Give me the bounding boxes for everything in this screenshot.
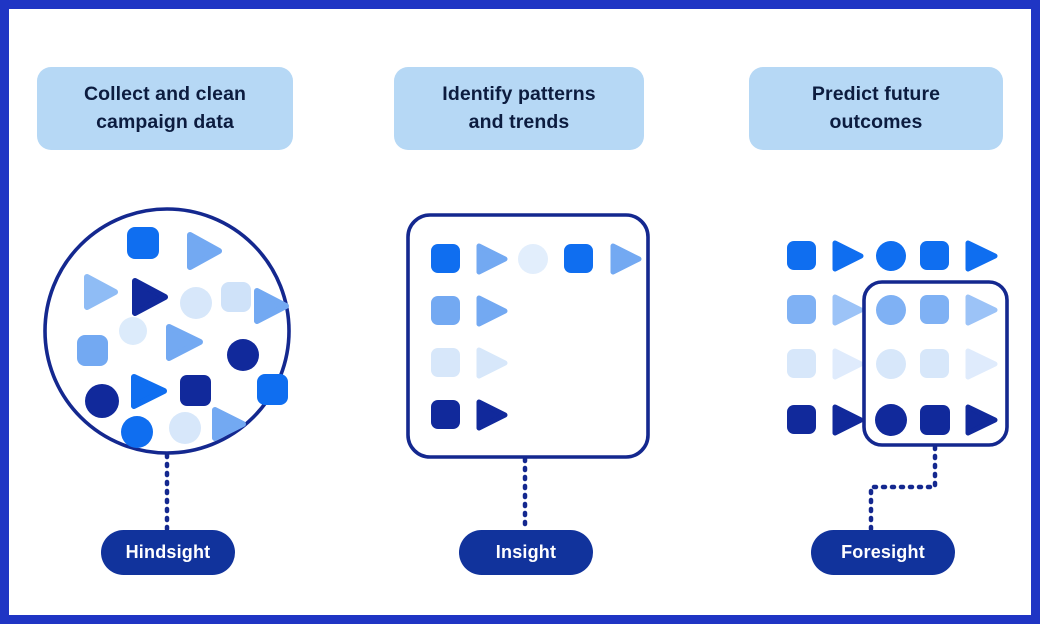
- scatter-triangle: [135, 281, 165, 313]
- foresight-square: [787, 241, 816, 270]
- foresight-triangle: [968, 243, 995, 269]
- insight-square: [431, 296, 460, 325]
- scatter-circle: [227, 339, 259, 371]
- label-pill-hindsight[interactable]: Hindsight: [101, 530, 235, 575]
- label-pill-insight[interactable]: Insight: [459, 530, 593, 575]
- insight-square: [564, 244, 593, 273]
- foresight-circle: [875, 404, 907, 436]
- scatter-circle: [85, 384, 119, 418]
- foresight-square: [920, 241, 949, 270]
- label-text-hindsight: Hindsight: [126, 542, 211, 563]
- diagram-graphics: [9, 9, 1031, 615]
- foresight-circle: [876, 295, 906, 325]
- foresight-triangle: [968, 297, 995, 323]
- foresight-circle: [876, 349, 906, 379]
- foresight-grid: [787, 241, 1007, 529]
- foresight-triangle: [835, 351, 861, 377]
- label-text-insight: Insight: [496, 542, 556, 563]
- insight-triangle: [479, 350, 505, 376]
- label-text-foresight: Foresight: [841, 542, 925, 563]
- scatter-circle: [121, 416, 153, 448]
- foresight-triangle: [835, 243, 861, 269]
- diagram-canvas: Collect and clean campaign data Identify…: [0, 0, 1040, 624]
- scatter-triangle: [87, 277, 115, 307]
- scatter-square: [180, 375, 211, 406]
- scatter-circle: [119, 317, 147, 345]
- scatter-circle: [180, 287, 212, 319]
- diagram-body: Collect and clean campaign data Identify…: [9, 9, 1031, 615]
- foresight-square: [787, 349, 816, 378]
- foresight-square: [920, 405, 950, 435]
- scatter-square: [221, 282, 251, 312]
- scatter-square: [257, 374, 288, 405]
- insight-circle: [518, 244, 548, 274]
- foresight-connector: [871, 447, 935, 529]
- insight-triangle: [479, 298, 505, 324]
- foresight-triangle: [835, 297, 861, 323]
- foresight-circle: [876, 241, 906, 271]
- scatter-triangle: [190, 235, 219, 267]
- scatter-triangle: [257, 291, 286, 321]
- foresight-triangle: [835, 407, 861, 433]
- insight-triangle: [613, 246, 639, 272]
- insight-square: [431, 244, 460, 273]
- insight-triangle: [479, 246, 505, 272]
- insight-triangle: [479, 402, 505, 428]
- scatter-triangle: [215, 410, 243, 438]
- scatter-square: [77, 335, 108, 366]
- foresight-square: [787, 295, 816, 324]
- hindsight-cluster: [45, 209, 289, 529]
- scatter-triangle: [134, 377, 164, 406]
- foresight-square: [920, 349, 949, 378]
- insight-square: [431, 400, 460, 429]
- scatter-square: [127, 227, 159, 259]
- scatter-circle: [169, 412, 201, 444]
- foresight-triangle: [968, 407, 995, 433]
- foresight-square: [787, 405, 816, 434]
- insight-square: [431, 348, 460, 377]
- foresight-square: [920, 295, 949, 324]
- insight-panel: [408, 215, 648, 529]
- foresight-triangle: [968, 351, 995, 377]
- scatter-triangle: [169, 327, 200, 358]
- label-pill-foresight[interactable]: Foresight: [811, 530, 955, 575]
